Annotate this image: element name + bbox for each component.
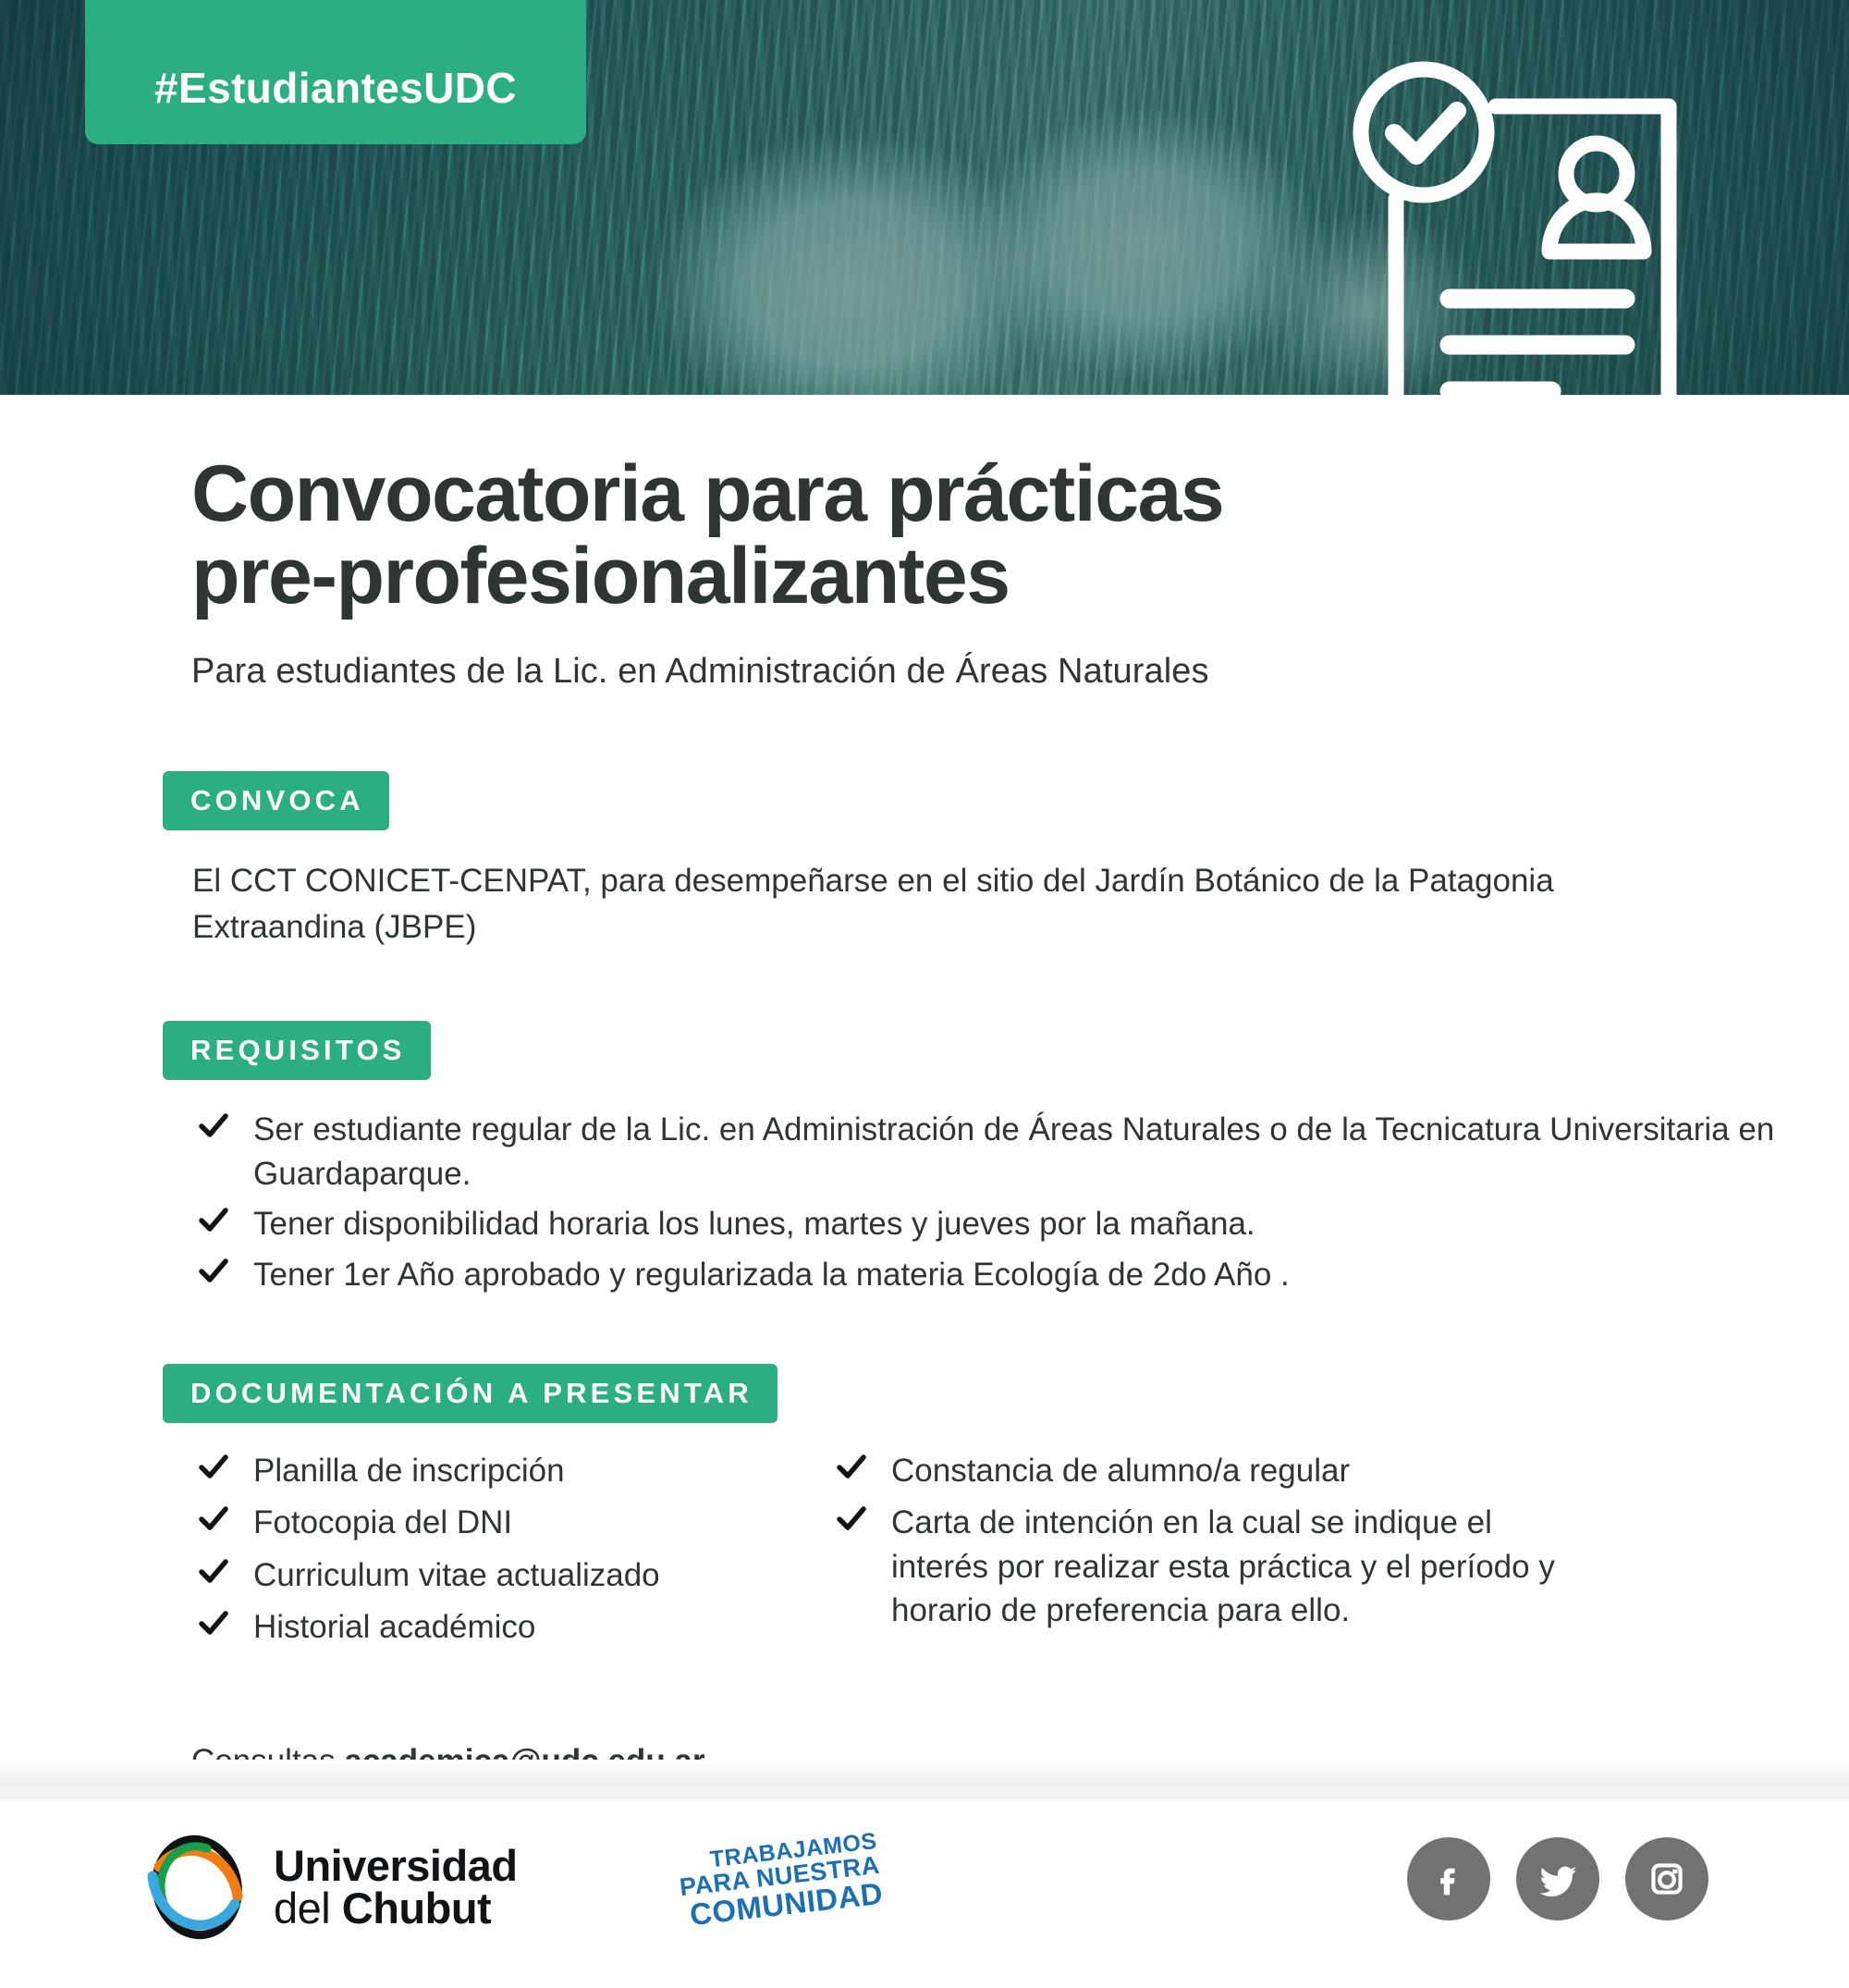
community-slogan: TRABAJAMOS PARA NUESTRA COMUNIDAD (676, 1830, 885, 1931)
section-documentacion: DOCUMENTACIÓN A PRESENTAR Planilla de in… (163, 1364, 1849, 1658)
list-item: Curriculum vitae actualizado (190, 1553, 828, 1598)
footer: Universidad del Chubut TRABAJAMOS PARA N… (0, 1800, 1849, 1988)
requisitos-list: Ser estudiante regular de la Lic. en Adm… (190, 1108, 1849, 1296)
instagram-icon[interactable] (1625, 1837, 1708, 1921)
list-item: Tener disponibilidad horaria los lunes, … (190, 1202, 1849, 1246)
header-banner: #EstudiantesUDC (0, 0, 1849, 395)
documentacion-list-right: Constancia de alumno/a regular Carta de … (828, 1449, 1568, 1658)
section-convoca: CONVOCA El CCT CONICET-CENPAT, para dese… (163, 771, 1849, 950)
list-item-label: Constancia de alumno/a regular (891, 1453, 1350, 1489)
section-tag-convoca: CONVOCA (163, 771, 389, 830)
hashtag-badge: #EstudiantesUDC (85, 0, 586, 144)
list-item: Constancia de alumno/a regular (828, 1449, 1568, 1493)
twitter-icon[interactable] (1516, 1837, 1599, 1921)
list-item-label: Curriculum vitae actualizado (253, 1557, 660, 1593)
facebook-icon[interactable] (1407, 1837, 1490, 1921)
check-icon (198, 1555, 229, 1587)
list-item: Carta de intención en la cual se indique… (828, 1501, 1568, 1633)
list-item-label: Tener 1er Año aprobado y regularizada la… (253, 1257, 1290, 1293)
list-item: Ser estudiante regular de la Lic. en Adm… (190, 1108, 1849, 1196)
udc-wordmark: Universidad del Chubut (274, 1845, 518, 1929)
udc-logo-chubut: Chubut (342, 1884, 491, 1933)
udc-rings-icon (141, 1826, 253, 1948)
check-icon (198, 1607, 229, 1638)
udc-logo-line1: Universidad (274, 1845, 518, 1887)
list-item-label: Carta de intención en la cual se indique… (891, 1504, 1555, 1628)
poster: #EstudiantesUDC Convocatoria pa (0, 0, 1849, 1988)
hashtag-label: #EstudiantesUDC (154, 63, 517, 113)
page-subtitle: Para estudiantes de la Lic. en Administr… (191, 652, 1849, 692)
section-tag-documentacion: DOCUMENTACIÓN A PRESENTAR (163, 1364, 778, 1423)
section-tag-requisitos: REQUISITOS (163, 1021, 431, 1080)
check-icon (198, 1110, 229, 1141)
list-item-label: Historial académico (253, 1609, 535, 1645)
list-item: Tener 1er Año aprobado y regularizada la… (190, 1253, 1849, 1297)
page-title: Convocatoria para prácticas pre-profesio… (191, 453, 1634, 619)
check-icon (198, 1503, 229, 1534)
documentacion-list-left: Planilla de inscripción Fotocopia del DN… (190, 1449, 828, 1658)
list-item-label: Ser estudiante regular de la Lic. en Adm… (253, 1111, 1774, 1192)
udc-logo: Universidad del Chubut (141, 1826, 518, 1948)
list-item-label: Planilla de inscripción (253, 1453, 565, 1489)
list-item: Planilla de inscripción (190, 1449, 828, 1493)
list-item-label: Tener disponibilidad horaria los lunes, … (253, 1206, 1255, 1242)
list-item-label: Fotocopia del DNI (253, 1504, 512, 1540)
udc-logo-line2: del Chubut (274, 1887, 518, 1930)
page-title-line1: Convocatoria para prácticas (191, 449, 1223, 538)
footer-divider (0, 1760, 1849, 1800)
main-content: Convocatoria para prácticas pre-profesio… (0, 395, 1849, 1780)
check-icon (836, 1451, 867, 1482)
check-icon (198, 1204, 229, 1235)
list-item: Fotocopia del DNI (190, 1501, 828, 1545)
documentacion-columns: Planilla de inscripción Fotocopia del DN… (190, 1449, 1849, 1658)
check-icon (836, 1503, 867, 1534)
section-requisitos: REQUISITOS Ser estudiante regular de la … (163, 1021, 1849, 1296)
list-item: Historial académico (190, 1605, 828, 1650)
check-icon (198, 1255, 229, 1286)
check-icon (198, 1451, 229, 1482)
social-links (1407, 1837, 1708, 1921)
document-check-person-icon (1341, 54, 1683, 395)
udc-logo-del: del (274, 1884, 342, 1933)
page-title-line2: pre-profesionalizantes (191, 532, 1010, 620)
convoca-text: El CCT CONICET-CENPAT, para desempeñarse… (192, 858, 1579, 950)
